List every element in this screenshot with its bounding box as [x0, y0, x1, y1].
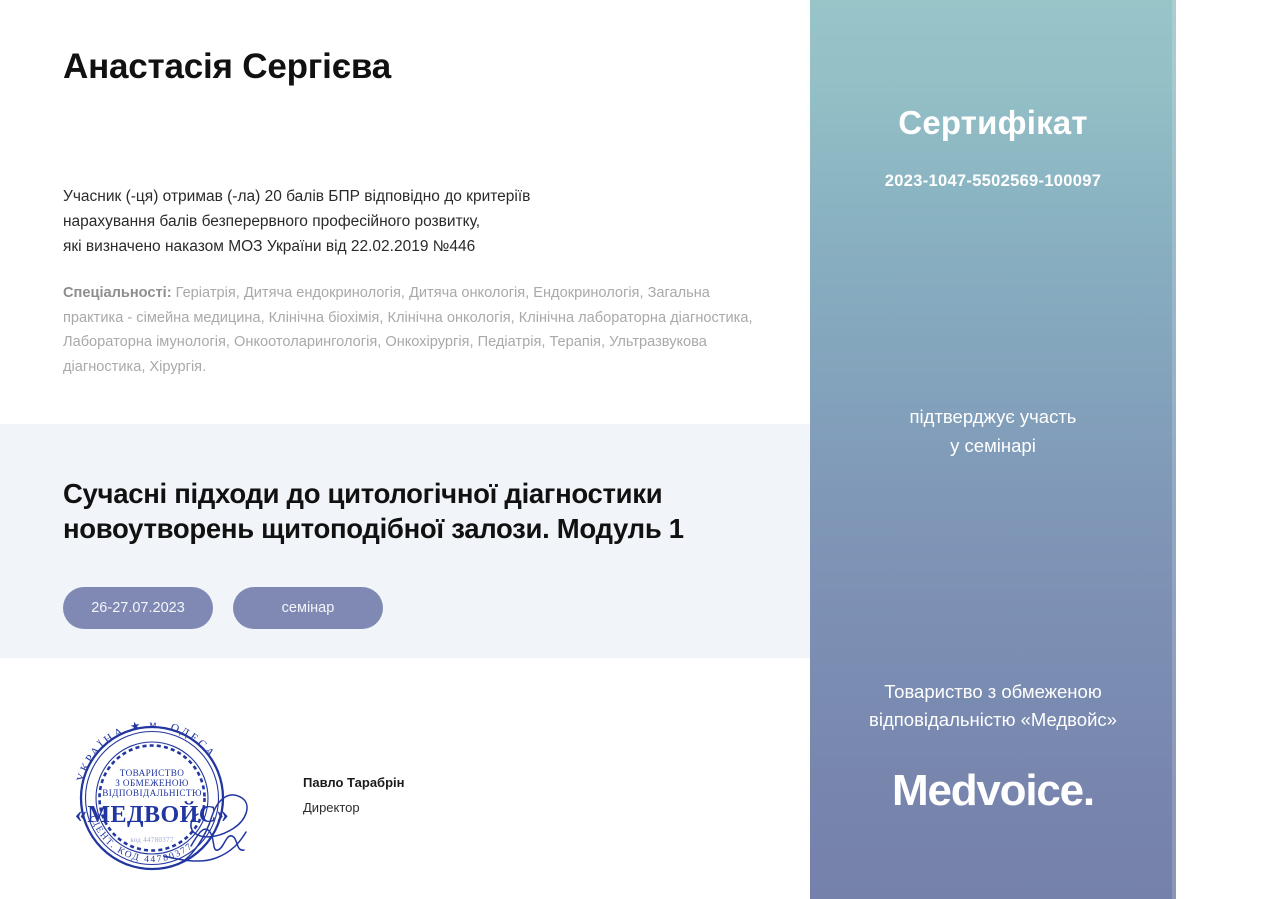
stamp-and-signature-graphic: УКРАЇНА ★ м. ОДЕСА ІДЕНТ. КОД 44780377 Т…: [60, 706, 275, 886]
signer-role: Директор: [303, 799, 553, 817]
confirmation-line-1: підтверджує участь: [810, 402, 1176, 431]
award-line-1: Учасник (-ця) отримав (-ла) 20 балів БПР…: [63, 184, 703, 209]
svg-text:ВІДПОВІДАЛЬНІСТЮ: ВІДПОВІДАЛЬНІСТЮ: [102, 788, 202, 798]
award-line-2: нарахування балів безперервного професій…: [63, 209, 703, 234]
svg-text:«МЕДВОЙС»: «МЕДВОЙС»: [75, 802, 229, 828]
course-title-line-2: новоутворень щитоподібної залози. Модуль…: [63, 511, 793, 546]
panel-confirmation-text: підтверджує участь у семінарі: [810, 402, 1176, 460]
certificate-right-panel: Сертифікат 2023-1047-5502569-100097 підт…: [810, 0, 1176, 899]
panel-organization: Товариство з обмеженою відповідальністю …: [810, 678, 1176, 734]
signer-block: Павло Тарабрін Директор: [303, 774, 553, 817]
specialties-block: Спеціальності: Геріатрія, Дитяча ендокри…: [63, 281, 763, 379]
organization-line-1: Товариство з обмеженою: [810, 678, 1176, 706]
svg-text:ТОВАРИСТВО: ТОВАРИСТВО: [120, 768, 185, 778]
organization-line-2: відповідальністю «Медвойс»: [810, 706, 1176, 734]
award-statement: Учасник (-ця) отримав (-ла) 20 балів БПР…: [63, 184, 703, 259]
certificate-page: Анастасія Сергієва Учасник (-ця) отримав…: [0, 0, 1280, 899]
svg-text:З ОБМЕЖЕНОЮ: З ОБМЕЖЕНОЮ: [115, 778, 189, 788]
svg-text:код 44780377: код 44780377: [130, 836, 173, 844]
course-title: Сучасні підходи до цитологічної діагност…: [63, 476, 793, 546]
badge-course-type: семінар: [233, 587, 383, 629]
recipient-name: Анастасія Сергієва: [63, 47, 391, 87]
confirmation-line-2: у семінарі: [810, 431, 1176, 460]
specialties-label: Спеціальності:: [63, 285, 172, 301]
certificate-number: 2023-1047-5502569-100097: [810, 172, 1176, 191]
course-badges: 26-27.07.2023 семінар: [63, 587, 383, 629]
certificate-left-column: Анастасія Сергієва Учасник (-ця) отримав…: [0, 0, 810, 899]
course-title-line-1: Сучасні підходи до цитологічної діагност…: [63, 476, 793, 511]
medvoice-logo: Medvoice.: [810, 766, 1176, 816]
course-highlight-band: Сучасні підходи до цитологічної діагност…: [0, 424, 810, 658]
company-stamp: УКРАЇНА ★ м. ОДЕСА ІДЕНТ. КОД 44780377 Т…: [60, 706, 275, 886]
badge-course-date: 26-27.07.2023: [63, 587, 213, 629]
award-line-3: які визначено наказом МОЗ України від 22…: [63, 234, 703, 259]
panel-title: Сертифікат: [810, 104, 1176, 142]
signer-name: Павло Тарабрін: [303, 774, 553, 792]
